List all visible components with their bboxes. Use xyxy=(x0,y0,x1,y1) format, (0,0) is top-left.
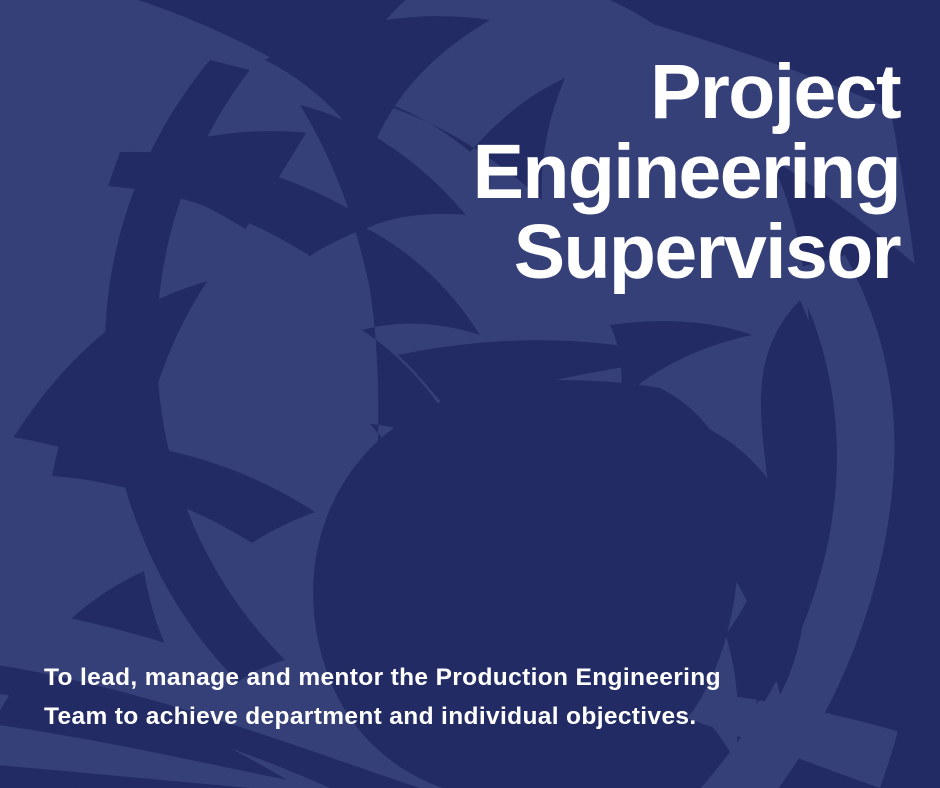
title-line-3: Supervisor xyxy=(210,212,900,292)
subtitle-line-2: Team to achieve department and individua… xyxy=(44,697,874,736)
title-line-1: Project xyxy=(210,52,900,132)
title-line-2: Engineering xyxy=(210,132,900,212)
poster-content: Project Engineering Supervisor To lead, … xyxy=(0,0,940,788)
job-role-poster: Project Engineering Supervisor To lead, … xyxy=(0,0,940,788)
page-title: Project Engineering Supervisor xyxy=(210,52,900,292)
subtitle-line-1: To lead, manage and mentor the Productio… xyxy=(44,658,874,697)
role-summary: To lead, manage and mentor the Productio… xyxy=(44,658,874,736)
